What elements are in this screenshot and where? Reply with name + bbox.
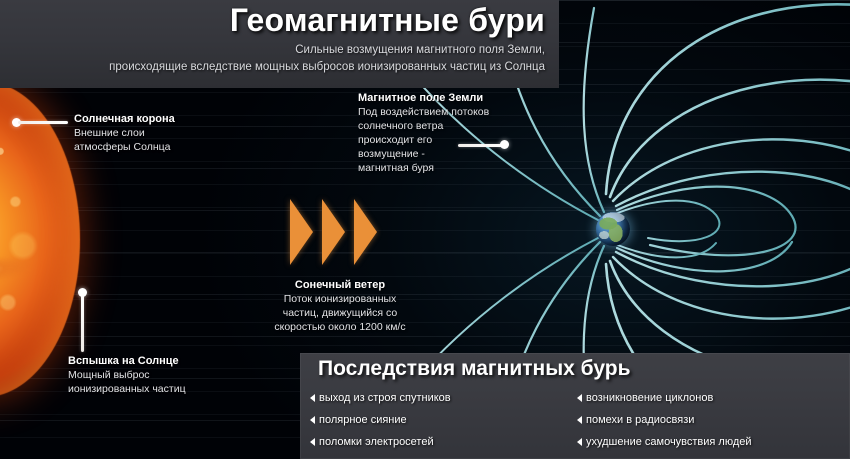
callout-solar-wind-line-3: скоростью около 1200 км/с <box>240 320 440 334</box>
page-subtitle-line-1: Сильные возмущения магнитного поля Земли… <box>295 44 545 56</box>
list-item: помехи в радиосвязи <box>577 409 844 431</box>
solar-wind-arrow-icon-3 <box>354 199 377 265</box>
header-panel: Геомагнитные бури Сильные возмущения маг… <box>0 0 559 88</box>
consequences-column-right: возникновение циклонов помехи в радиосвя… <box>577 387 844 453</box>
callout-solar-wind: Сонечный ветер Поток ионизированных част… <box>240 278 440 334</box>
magnetic-field-leader-line <box>458 144 504 147</box>
list-item: возникновение циклонов <box>577 387 844 409</box>
triangle-bullet-icon <box>577 438 582 446</box>
callout-solar-wind-line-1: Поток ионизированных <box>240 292 440 306</box>
flare-leader-line <box>81 294 84 352</box>
callout-solar-corona-title: Солнечная корона <box>74 112 175 126</box>
callout-solar-flare-line-2: ионизированных частиц <box>68 382 186 396</box>
list-item-label: поломки электросетей <box>319 436 434 448</box>
consequences-panel: Последствия магнитных бурь выход из стро… <box>300 353 850 459</box>
page-subtitle-line-2: происходящие вследствие мощных выбросов … <box>109 61 545 73</box>
callout-magnetic-field-title: Магнитное поле Земли <box>358 91 489 105</box>
list-item: поломки электросетей <box>310 431 577 453</box>
callout-solar-flare-line-1: Мощный выброс <box>68 368 186 382</box>
callout-magnetic-field-line-5: магнитная буря <box>358 161 489 175</box>
magnetic-field-leader-dot <box>500 140 509 149</box>
earth-globe <box>596 212 630 246</box>
triangle-bullet-icon <box>310 394 315 402</box>
triangle-bullet-icon <box>310 438 315 446</box>
callout-solar-flare-title: Вспышка на Солнце <box>68 354 186 368</box>
callout-solar-corona-line-1: Внешние слои <box>74 126 175 140</box>
consequences-title: Последствия магнитных бурь <box>318 357 631 381</box>
list-item-label: возникновение циклонов <box>586 392 713 404</box>
callout-solar-flare: Вспышка на Солнце Мощный выброс ионизиро… <box>68 354 186 396</box>
triangle-bullet-icon <box>310 416 315 424</box>
page-title: Геомагнитные бури <box>230 2 545 39</box>
infographic-geomagnetic-storms: Геомагнитные бури Сильные возмущения маг… <box>0 0 850 459</box>
list-item-label: помехи в радиосвязи <box>586 414 694 426</box>
corona-leader-line <box>18 121 68 124</box>
list-item: полярное сияние <box>310 409 577 431</box>
callout-solar-wind-title: Сонечный ветер <box>240 278 440 292</box>
callout-magnetic-field-line-2: солнечного ветра <box>358 119 489 133</box>
solar-wind-arrow-icon-1 <box>290 199 313 265</box>
callout-magnetic-field-line-1: Под воздействием потоков <box>358 105 489 119</box>
sun <box>0 82 80 397</box>
consequences-columns: выход из строя спутников полярное сияние… <box>310 387 844 453</box>
list-item-label: выход из строя спутников <box>319 392 451 404</box>
callout-magnetic-field: Магнитное поле Земли Под воздействием по… <box>358 91 489 175</box>
list-item: ухудшение самочувствия людей <box>577 431 844 453</box>
sun-corona-glow <box>0 82 80 397</box>
consequences-column-left: выход из строя спутников полярное сияние… <box>310 387 577 453</box>
list-item: выход из строя спутников <box>310 387 577 409</box>
callout-solar-corona-line-2: атмосферы Солнца <box>74 140 175 154</box>
list-item-label: полярное сияние <box>319 414 407 426</box>
callout-solar-wind-line-2: частиц, движущийся со <box>240 306 440 320</box>
solar-wind-arrow-icon-2 <box>322 199 345 265</box>
callout-magnetic-field-line-4: возмущение - <box>358 147 489 161</box>
list-item-label: ухудшение самочувствия людей <box>586 436 752 448</box>
triangle-bullet-icon <box>577 416 582 424</box>
triangle-bullet-icon <box>577 394 582 402</box>
callout-solar-corona: Солнечная корона Внешние слои атмосферы … <box>74 112 175 154</box>
